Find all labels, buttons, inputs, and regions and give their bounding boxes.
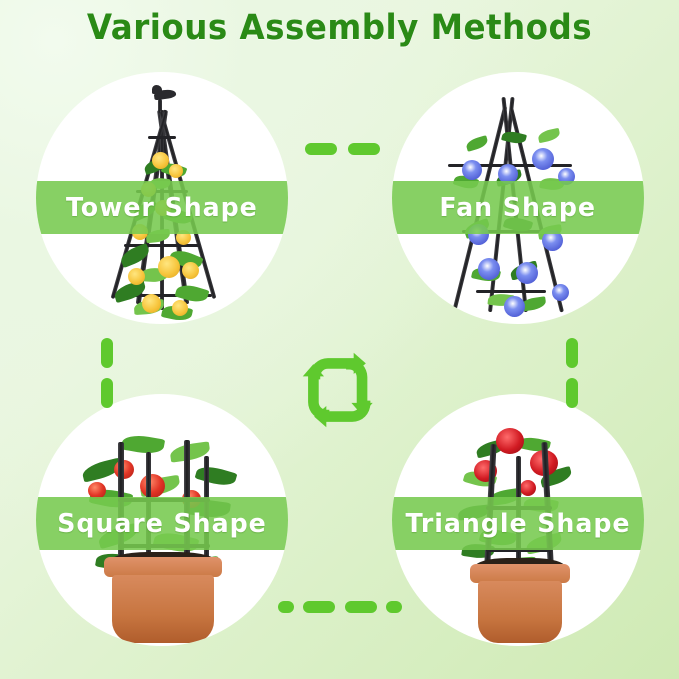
connector-dash-left — [101, 378, 113, 408]
connector-dash-right — [566, 378, 578, 408]
method-banner-square: Square Shape — [36, 497, 288, 550]
connector-dash-top — [348, 143, 380, 155]
connector-dash-left — [101, 338, 113, 368]
connector-dash-bottom — [386, 601, 402, 613]
pot-body — [112, 575, 214, 643]
method-banner-fan: Fan Shape — [392, 181, 644, 234]
morning-glory-bloom — [516, 262, 538, 284]
page-title: Various Assembly Methods — [24, 8, 655, 48]
morning-glory-bloom — [504, 296, 525, 317]
morning-glory-bloom — [462, 160, 482, 180]
rose-bloom — [169, 164, 183, 178]
rose-bloom — [520, 480, 536, 496]
method-card-triangle[interactable]: Triangle Shape — [392, 394, 644, 646]
rose-bloom — [496, 428, 524, 454]
foliage-leaf — [121, 432, 165, 456]
foliage-leaf — [465, 135, 489, 152]
rose-bloom — [182, 262, 199, 279]
rose-bloom — [172, 300, 188, 316]
method-label-fan: Fan Shape — [440, 193, 597, 223]
rose-bloom — [152, 152, 169, 169]
recycle-arrows-icon — [302, 352, 378, 428]
connector-dash-bottom — [345, 601, 377, 613]
method-card-fan[interactable]: Fan Shape — [392, 72, 644, 324]
bird-finial-icon — [152, 85, 162, 94]
trellis-rung — [476, 290, 546, 293]
trellis-rung — [148, 136, 176, 139]
foliage-leaf — [118, 243, 151, 268]
method-banner-tower: Tower Shape — [36, 181, 288, 234]
method-label-triangle: Triangle Shape — [406, 509, 631, 539]
connector-dash-top — [305, 143, 337, 155]
tomato-fruit — [140, 474, 165, 498]
method-label-tower: Tower Shape — [66, 193, 258, 223]
method-card-square[interactable]: Square Shape — [36, 394, 288, 646]
foliage-leaf — [195, 463, 238, 489]
rose-bloom — [142, 294, 161, 313]
morning-glory-bloom — [478, 258, 500, 280]
pot-rim — [104, 557, 222, 577]
method-banner-triangle: Triangle Shape — [392, 497, 644, 550]
rose-bloom — [158, 256, 180, 278]
connector-dash-bottom — [303, 601, 335, 613]
morning-glory-bloom — [532, 148, 554, 170]
pot-body — [478, 581, 562, 643]
infographic-poster: Various Assembly Methods — [0, 0, 679, 679]
connector-dash-bottom — [278, 601, 294, 613]
morning-glory-bloom — [552, 284, 569, 301]
connector-dash-right — [566, 338, 578, 368]
method-label-square: Square Shape — [57, 509, 266, 539]
foliage-leaf — [537, 128, 561, 143]
method-card-tower[interactable]: Tower Shape — [36, 72, 288, 324]
rose-bloom — [128, 268, 145, 285]
tomato-fruit — [114, 460, 134, 479]
